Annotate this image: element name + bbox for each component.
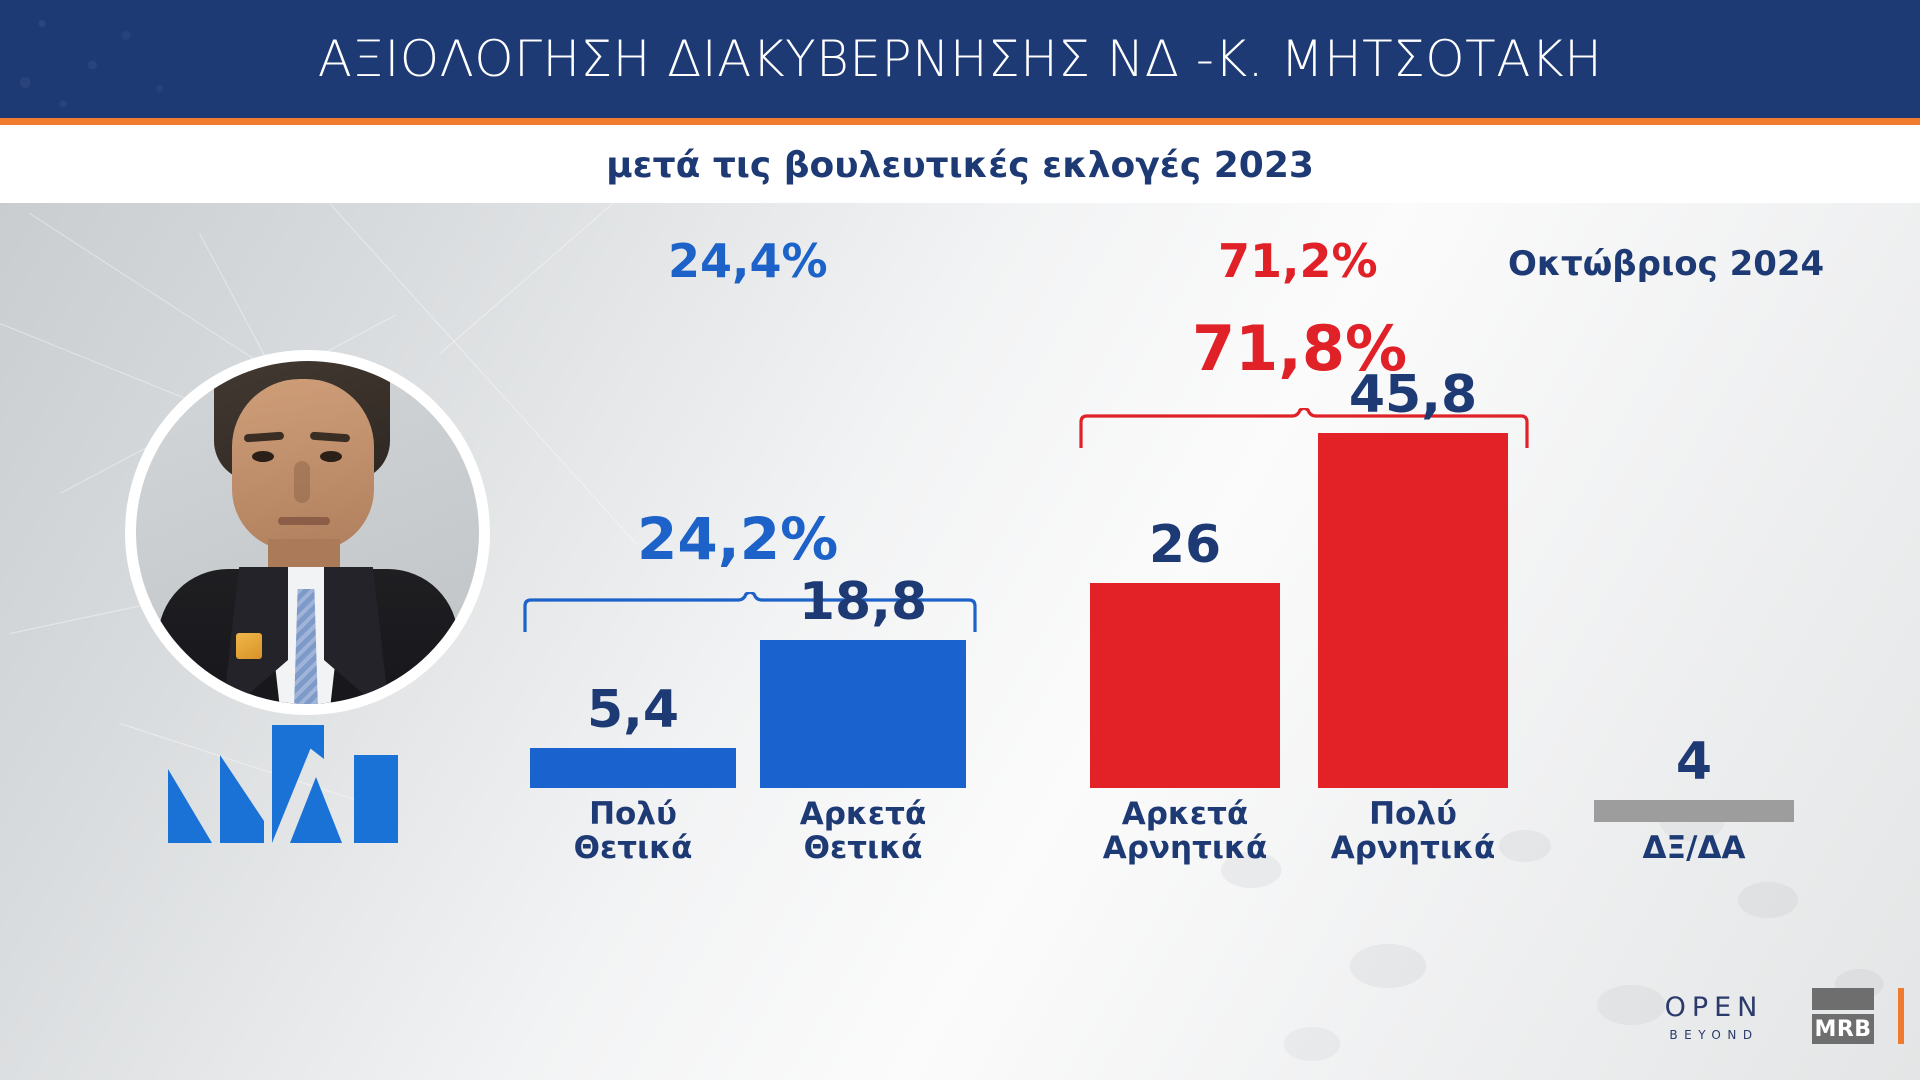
bar-value: 26 (1149, 519, 1221, 571)
footer-logos: OPEN BEYOND MRB (1648, 988, 1920, 1066)
bar-label-poly-arnitika: Πολύ Αρνητικά (1331, 798, 1496, 865)
bar-label-line1: Πολύ (1331, 798, 1496, 831)
bar-rect-poly-arnitika (1318, 433, 1508, 788)
bar-label-dk-da: ΔΞ/ΔΑ (1643, 832, 1746, 865)
bar-label-arketa-arnitika: Αρκετά Αρνητικά (1103, 798, 1268, 865)
page-title: ΑΞΙΟΛΟΓΗΣΗ ΔΙΑΚΥΒΕΡΝΗΣΗΣ ΝΔ -Κ. ΜΗΤΣΟΤΑΚ… (0, 0, 1920, 118)
bar-label-poly-thetika: Πολύ Θετικά (574, 798, 693, 865)
bar-rect-arketa-thetika (760, 640, 966, 788)
bar-rect-arketa-arnitika (1090, 583, 1280, 788)
mrb-logo: MRB (1812, 988, 1874, 1044)
mrb-wordmark: MRB (1812, 1014, 1874, 1044)
bar-group-dk-da: 4 ΔΞ/ΔΑ (1594, 736, 1794, 865)
bar-label-line1: ΔΞ/ΔΑ (1643, 832, 1746, 865)
bar-value: 4 (1676, 736, 1712, 788)
bar-group-arketa-thetika: 18,8 Αρκετά Θετικά (760, 576, 966, 865)
orange-tick-icon (1898, 988, 1904, 1044)
bar-rect-poly-thetika (530, 748, 736, 788)
bar-value: 18,8 (799, 576, 927, 628)
bar-group-arketa-arnitika: 26 Αρκετά Αρνητικά (1090, 519, 1280, 865)
bar-group-poly-arnitika: 45,8 Πολύ Αρνητικά (1318, 369, 1508, 865)
bar-label-line2: Θετικά (800, 832, 927, 865)
bar-chart: 5,4 Πολύ Θετικά 18,8 Αρκετά Θετικά 26 Αρ… (0, 203, 1920, 1080)
open-beyond-logo: OPEN BEYOND (1648, 994, 1780, 1041)
bar-label-arketa-thetika: Αρκετά Θετικά (800, 798, 927, 865)
page-subtitle: μετά τις βουλευτικές εκλογές 2023 (0, 125, 1920, 205)
beyond-wordmark: BEYOND (1648, 1029, 1780, 1041)
bar-value: 45,8 (1349, 369, 1477, 421)
bar-group-poly-thetika: 5,4 Πολύ Θετικά (530, 684, 736, 865)
bar-label-line1: Αρκετά (800, 798, 927, 831)
bar-value: 5,4 (587, 684, 679, 736)
bar-label-line2: Αρνητικά (1331, 832, 1496, 865)
accent-rule (0, 118, 1920, 125)
bar-label-line2: Θετικά (574, 832, 693, 865)
bar-rect-dk-da (1594, 800, 1794, 822)
bar-label-line1: Αρκετά (1103, 798, 1268, 831)
bar-label-line2: Αρνητικά (1103, 832, 1268, 865)
mrb-logo-bar (1812, 988, 1874, 1010)
infographic-canvas: ΑΞΙΟΛΟΓΗΣΗ ΔΙΑΚΥΒΕΡΝΗΣΗΣ ΝΔ -Κ. ΜΗΤΣΟΤΑΚ… (0, 0, 1920, 1080)
bar-label-line1: Πολύ (574, 798, 693, 831)
open-wordmark: OPEN (1648, 994, 1780, 1021)
